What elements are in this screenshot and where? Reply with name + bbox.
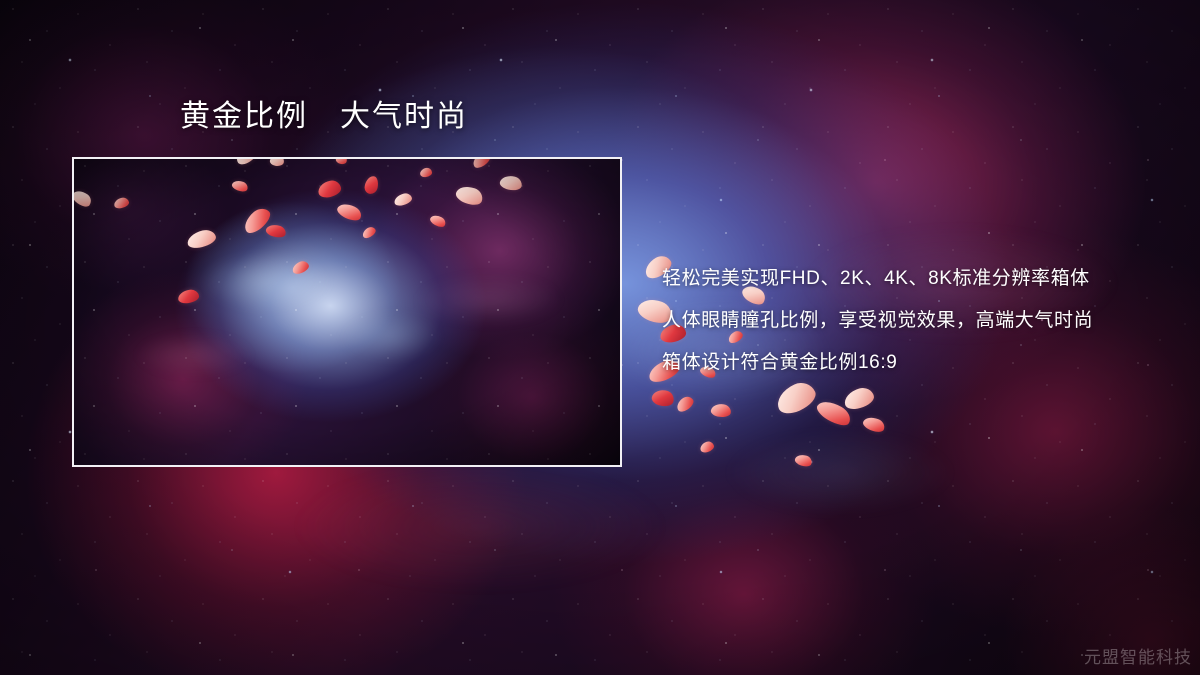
photo-vignette <box>74 159 620 465</box>
body-line-2: 人体眼睛瞳孔比例，享受视觉效果，高端大气时尚 <box>662 300 1182 342</box>
petal-icon <box>650 388 675 409</box>
body-line-3: 箱体设计符合黄金比例16:9 <box>662 342 1182 384</box>
petal-icon <box>794 453 814 469</box>
petal-icon <box>814 396 854 430</box>
petal-icon <box>710 403 732 419</box>
petal-icon <box>699 440 715 454</box>
watermark: 元盟智能科技 <box>1084 643 1192 668</box>
framed-photo <box>72 157 622 467</box>
petal-icon <box>842 385 876 412</box>
body-line-1: 轻松完美实现FHD、2K、4K、8K标准分辨率箱体 <box>662 258 1182 300</box>
body-text-block: 轻松完美实现FHD、2K、4K、8K标准分辨率箱体 人体眼睛瞳孔比例，享受视觉效… <box>662 258 1182 384</box>
petal-icon <box>674 394 696 414</box>
slide-title: 黄金比例 大气时尚 <box>180 100 468 135</box>
photo-content <box>74 159 620 465</box>
petal-icon <box>861 414 886 434</box>
presentation-slide: 黄金比例 大气时尚 轻松完美实现FHD、2K、4K、8K标准分辨率箱体 人体眼睛… <box>0 0 1200 675</box>
